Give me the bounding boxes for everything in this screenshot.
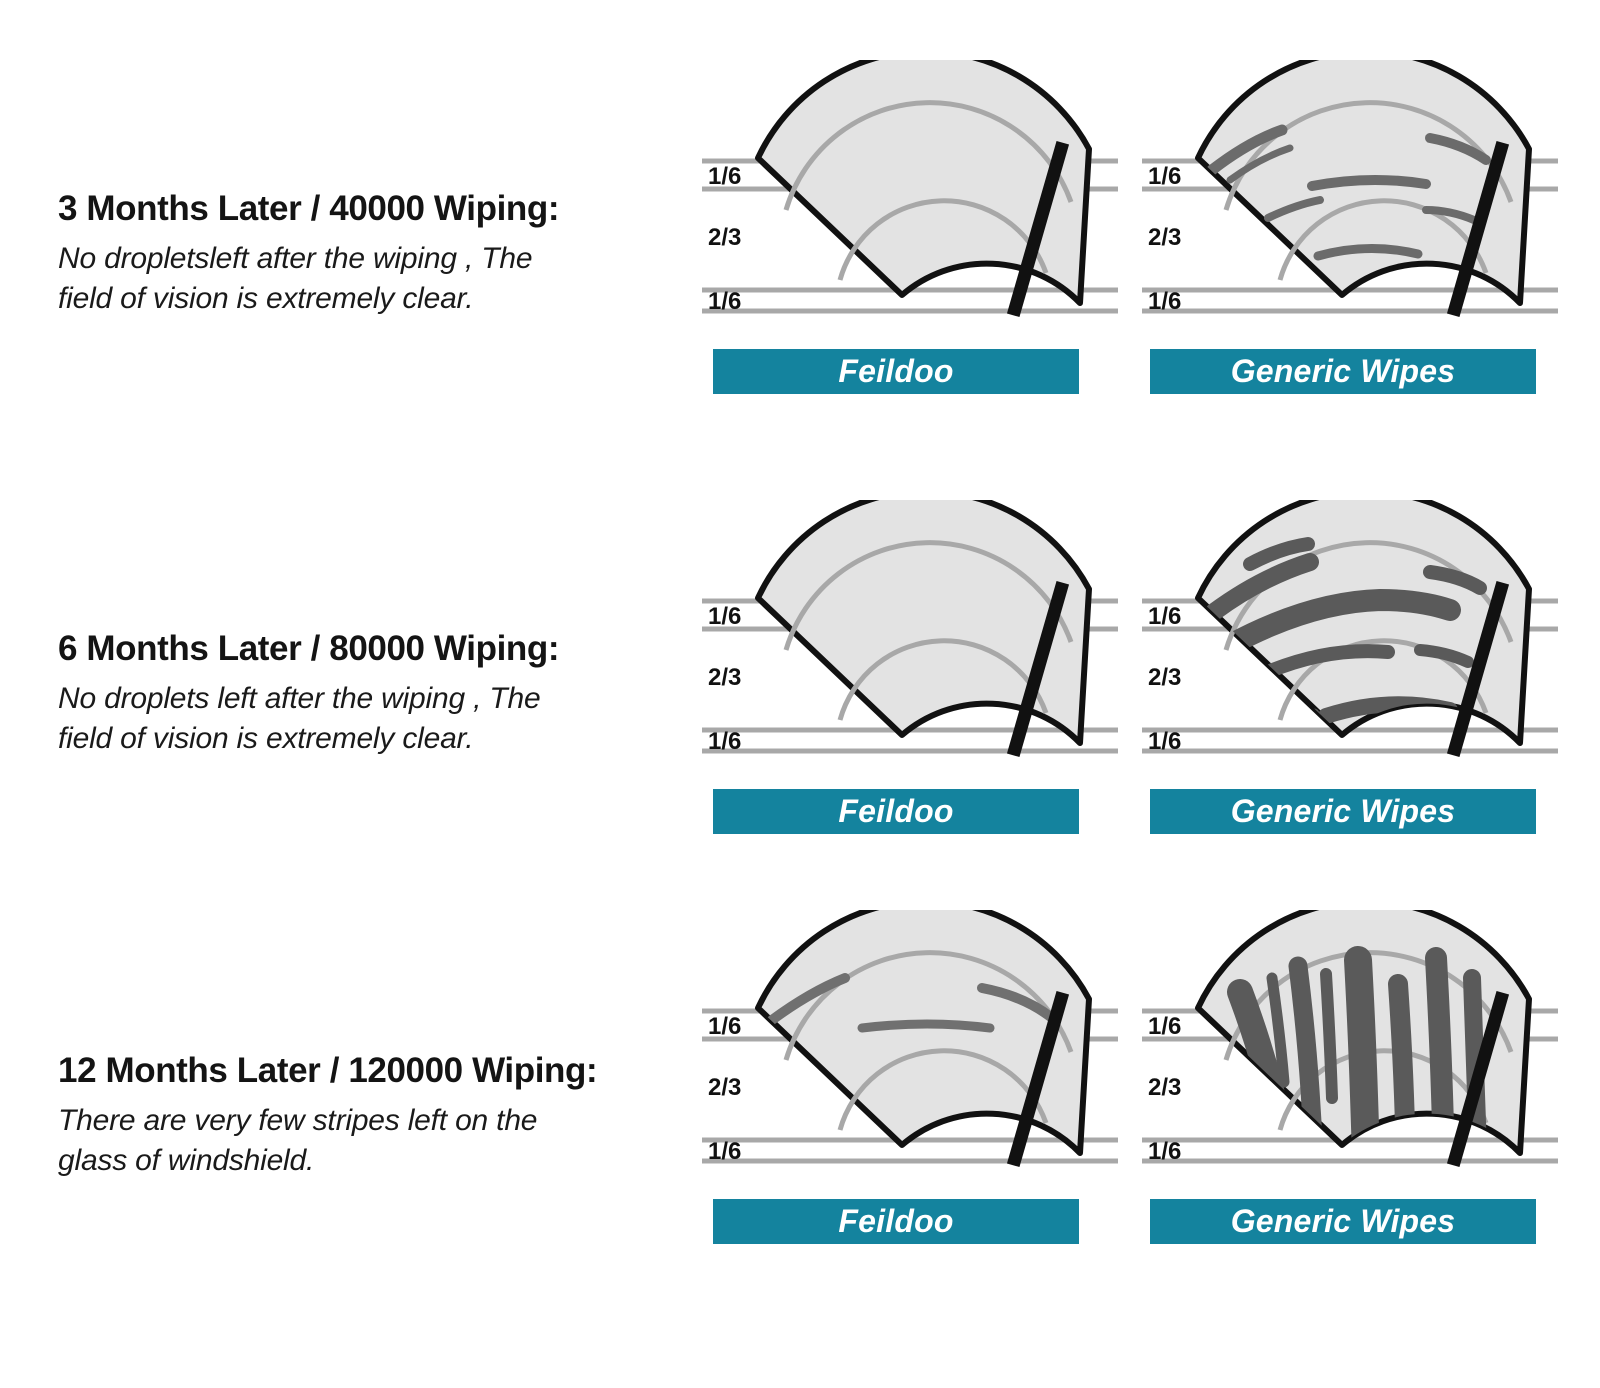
row-headline: 6 Months Later / 80000 Wiping:: [58, 628, 718, 669]
row-description: No droplets left after the wiping , The …: [58, 679, 718, 759]
brand-label-bar-feildoo: Feildoo: [713, 789, 1079, 834]
brand-label-bar-generic: Generic Wipes: [1150, 789, 1536, 834]
comparison-row-3-months: 3 Months Later / 40000 Wiping: No drople…: [0, 60, 1600, 480]
row-description-line-2: field of vision is extremely clear.: [58, 282, 473, 315]
zone-label-bottom: 1/6: [708, 728, 741, 755]
brand-label-text: Feildoo: [838, 1203, 953, 1240]
windshield-glass: [758, 500, 1089, 743]
zone-label-top: 1/6: [708, 163, 741, 190]
zone-label-bottom: 1/6: [708, 1138, 741, 1165]
panel-generic-wipes: 1/6 2/3 1/6: [1130, 910, 1570, 1260]
comparison-row-12-months: 12 Months Later / 120000 Wiping: There a…: [0, 910, 1600, 1330]
zone-label-bottom: 1/6: [1148, 728, 1181, 755]
row-text-block: 12 Months Later / 120000 Wiping: There a…: [58, 1050, 718, 1181]
brand-label-bar-generic: Generic Wipes: [1150, 349, 1536, 394]
panel-feildoo: 1/6 2/3 1/6: [690, 910, 1130, 1260]
zone-label-top: 1/6: [1148, 163, 1181, 190]
windshield-diagram-feildoo: 1/6 2/3 1/6: [690, 500, 1130, 790]
row-text-block: 3 Months Later / 40000 Wiping: No drople…: [58, 188, 718, 319]
zone-label-bottom: 1/6: [1148, 288, 1181, 315]
zone-label-top: 1/6: [1148, 1013, 1181, 1040]
comparison-infographic: 3 Months Later / 40000 Wiping: No drople…: [0, 0, 1600, 1388]
brand-label-text: Generic Wipes: [1231, 1203, 1456, 1240]
zone-label-middle: 2/3: [1148, 664, 1181, 691]
windshield-diagram-generic: 1/6 2/3 1/6: [1130, 910, 1570, 1200]
row-description: There are very few stripes left on the g…: [58, 1101, 718, 1181]
windshield-diagram-feildoo: 1/6 2/3 1/6: [690, 910, 1130, 1200]
zone-label-top: 1/6: [708, 1013, 741, 1040]
brand-label-bar-generic: Generic Wipes: [1150, 1199, 1536, 1244]
panel-feildoo: 1/6 2/3 1/6 Feildoo: [690, 60, 1130, 410]
zone-label-middle: 2/3: [708, 224, 741, 251]
brand-label-text: Feildoo: [838, 353, 953, 390]
panel-feildoo: 1/6 2/3 1/6 Feildoo: [690, 500, 1130, 850]
zone-label-middle: 2/3: [1148, 224, 1181, 251]
windshield-diagram-feildoo: 1/6 2/3 1/6: [690, 60, 1130, 350]
zone-label-top: 1/6: [1148, 603, 1181, 630]
row-headline: 12 Months Later / 120000 Wiping:: [58, 1050, 718, 1091]
zone-label-middle: 2/3: [708, 664, 741, 691]
row-description-line-2: field of vision is extremely clear.: [58, 722, 473, 755]
windshield-glass: [758, 910, 1089, 1153]
windshield-diagram-generic: 1/6 2/3 1/6: [1130, 60, 1570, 350]
row-headline: 3 Months Later / 40000 Wiping:: [58, 188, 718, 229]
panel-generic-wipes: 1/6 2/3 1/6: [1130, 60, 1570, 410]
row-description-line-2: glass of windshield.: [58, 1144, 314, 1177]
zone-label-bottom: 1/6: [708, 288, 741, 315]
zone-label-top: 1/6: [708, 603, 741, 630]
brand-label-bar-feildoo: Feildoo: [713, 1199, 1079, 1244]
brand-label-text: Generic Wipes: [1231, 793, 1456, 830]
brand-label-text: Generic Wipes: [1231, 353, 1456, 390]
brand-label-text: Feildoo: [838, 793, 953, 830]
zone-label-bottom: 1/6: [1148, 1138, 1181, 1165]
windshield-diagram-generic: 1/6 2/3 1/6: [1130, 500, 1570, 790]
row-description-line-1: There are very few stripes left on the: [58, 1104, 537, 1137]
row-text-block: 6 Months Later / 80000 Wiping: No drople…: [58, 628, 718, 759]
row-description-line-1: No droplets left after the wiping , The: [58, 682, 540, 715]
zone-label-middle: 2/3: [1148, 1074, 1181, 1101]
panel-generic-wipes: 1/6 2/3 1/6: [1130, 500, 1570, 850]
row-description: No dropletsleft after the wiping , The f…: [58, 239, 718, 319]
windshield-glass: [758, 60, 1089, 303]
zone-label-middle: 2/3: [708, 1074, 741, 1101]
brand-label-bar-feildoo: Feildoo: [713, 349, 1079, 394]
row-description-line-1: No dropletsleft after the wiping , The: [58, 242, 532, 275]
comparison-row-6-months: 6 Months Later / 80000 Wiping: No drople…: [0, 500, 1600, 920]
